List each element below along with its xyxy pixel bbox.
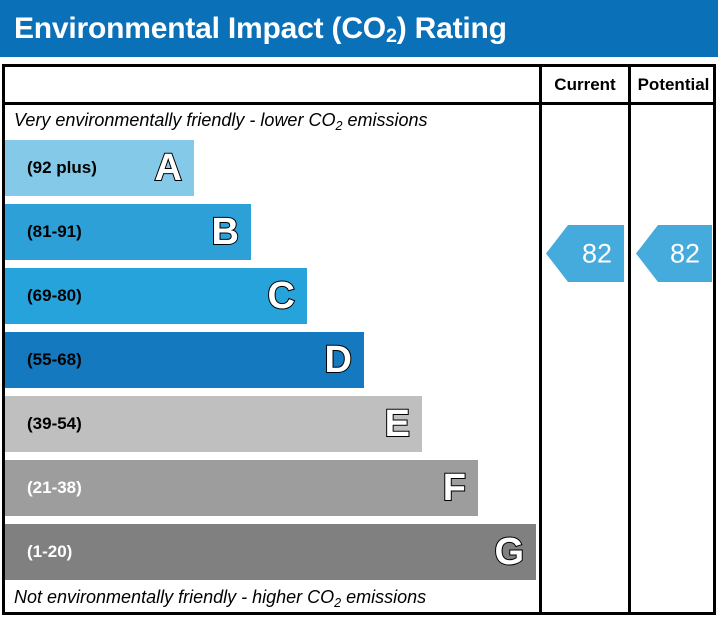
rating-band-c: (69-80) C — [5, 268, 307, 324]
caption-top-suffix: emissions — [342, 110, 427, 130]
caption-bottom: Not environmentally friendly - higher CO… — [14, 587, 426, 608]
caption-top: Very environmentally friendly - lower CO… — [14, 110, 428, 131]
rating-band-g-letter: G — [494, 533, 524, 571]
caption-top-prefix: Very environmentally friendly - lower CO — [14, 110, 335, 130]
page-title-suffix: ) Rating — [397, 12, 507, 45]
rating-band-a-range: (92 plus) — [27, 158, 97, 178]
current-rating-marker: 82 — [546, 225, 624, 282]
rating-band-f-letter: F — [443, 469, 466, 507]
potential-rating-value: 82 — [670, 240, 700, 267]
page-title: Environmental Impact (CO2) Rating — [14, 12, 507, 46]
rating-band-d-range: (55-68) — [27, 350, 82, 370]
rating-band-e-letter: E — [385, 405, 410, 443]
rating-band-a: (92 plus) A — [5, 140, 194, 196]
column-header-potential: Potential — [631, 67, 716, 102]
caption-bottom-suffix: emissions — [341, 587, 426, 607]
rating-band-g-range: (1-20) — [27, 542, 72, 562]
column-header-current: Current — [542, 67, 628, 102]
rating-band-c-range: (69-80) — [27, 286, 82, 306]
environmental-impact-rating-chart: Environmental Impact (CO2) Rating Curren… — [0, 0, 718, 619]
rating-band-e-range: (39-54) — [27, 414, 82, 434]
page-title-subscript: 2 — [386, 25, 397, 47]
rating-band-c-letter: C — [268, 277, 295, 315]
caption-bottom-subscript: 2 — [334, 596, 341, 610]
rating-band-g: (1-20) G — [5, 524, 536, 580]
chart-title-bar: Environmental Impact (CO2) Rating — [0, 0, 718, 57]
current-rating-value: 82 — [582, 240, 612, 267]
rating-band-f: (21-38) F — [5, 460, 478, 516]
rating-band-a-letter: A — [155, 149, 182, 187]
rating-band-b-letter: B — [212, 213, 239, 251]
rating-band-b-range: (81-91) — [27, 222, 82, 242]
caption-bottom-prefix: Not environmentally friendly - higher CO — [14, 587, 334, 607]
potential-rating-marker: 82 — [636, 225, 712, 282]
rating-band-d-letter: D — [325, 341, 352, 379]
column-separator-potential — [628, 64, 631, 615]
rating-band-b: (81-91) B — [5, 204, 251, 260]
rating-band-e: (39-54) E — [5, 396, 422, 452]
rating-band-f-range: (21-38) — [27, 478, 82, 498]
column-separator-current — [539, 64, 542, 615]
page-title-prefix: Environmental Impact (CO — [14, 12, 386, 45]
rating-bands: (92 plus) A (81-91) B (69-80) C (55-68) … — [5, 140, 539, 580]
rating-band-d: (55-68) D — [5, 332, 364, 388]
header-divider — [2, 102, 716, 105]
caption-top-subscript: 2 — [335, 119, 342, 133]
